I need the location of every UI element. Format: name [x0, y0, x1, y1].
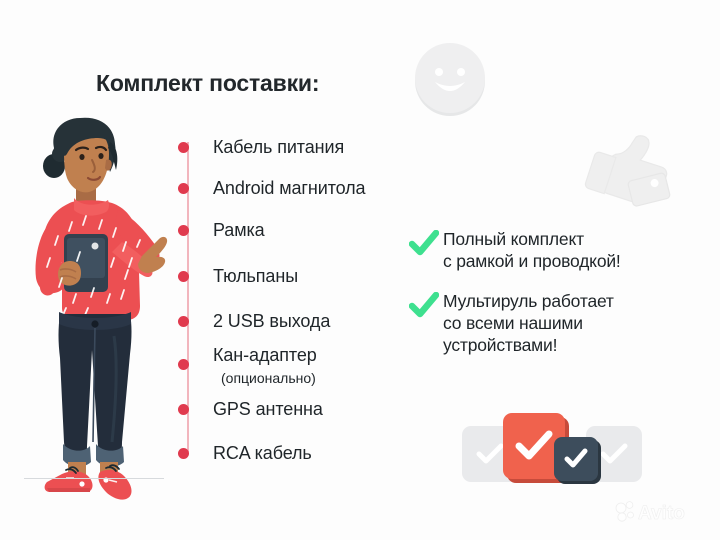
- list-item: Android магнитола: [178, 177, 365, 199]
- check-icon: [563, 448, 589, 470]
- bullet-dot-icon: [178, 316, 189, 327]
- ground-line: [24, 478, 164, 479]
- checkbox-cards-decoration: [462, 412, 642, 492]
- benefit-line: с рамкой и проводкой!: [443, 250, 621, 272]
- list-item-label: GPS антенна: [213, 399, 323, 420]
- list-item: Рамка: [178, 219, 265, 241]
- benefit-item: Полный комплект с рамкой и проводкой!: [409, 228, 709, 272]
- bullet-dot-icon: [178, 359, 189, 370]
- benefits-list: Полный комплект с рамкой и проводкой! Му…: [409, 228, 709, 370]
- avito-wordmark: Avito: [638, 503, 685, 524]
- bullet-dot-icon: [178, 448, 189, 459]
- list-item: Тюльпаны: [178, 265, 298, 287]
- list-item: Кабель питания: [178, 136, 344, 158]
- page-title: Комплект поставки:: [96, 70, 319, 97]
- green-check-icon: [409, 230, 439, 258]
- list-item-label: Кан-адаптер: [213, 345, 317, 366]
- list-item-label: Рамка: [213, 220, 265, 241]
- thumbs-up-icon: [569, 104, 700, 235]
- list-item-label: 2 USB выхода: [213, 311, 330, 332]
- woman-with-tablet-illustration: [14, 112, 182, 504]
- benefit-line: Полный комплект: [443, 228, 621, 250]
- list-item: RCA кабель: [178, 442, 312, 464]
- check-icon: [475, 442, 505, 466]
- list-item-label: RCA кабель: [213, 443, 312, 464]
- benefit-item: Мультируль работает со всеми нашими устр…: [409, 290, 709, 356]
- benefit-text: Полный комплект с рамкой и проводкой!: [443, 228, 621, 272]
- bullet-dot-icon: [178, 183, 189, 194]
- check-icon: [514, 430, 554, 462]
- avito-watermark: Avito: [612, 498, 710, 526]
- checkbox-card-dark: [554, 437, 598, 481]
- bullet-dot-icon: [178, 271, 189, 282]
- package-contents-list: Кабель питания Android магнитола Рамка Т…: [178, 130, 408, 460]
- benefit-line: со всеми нашими: [443, 312, 614, 334]
- benefit-line: устройствами!: [443, 334, 614, 356]
- benefit-line: Мультируль работает: [443, 290, 614, 312]
- bullet-dot-icon: [178, 225, 189, 236]
- list-item-label: Android магнитола: [213, 178, 365, 199]
- product-infographic-image: Комплект поставки:: [0, 0, 720, 540]
- check-icon: [599, 442, 629, 466]
- list-item-label: Тюльпаны: [213, 266, 298, 287]
- list-item: GPS антенна: [178, 398, 323, 420]
- list-item-sublabel: (опционально): [221, 370, 316, 386]
- list-item: 2 USB выхода: [178, 310, 330, 332]
- green-check-icon: [409, 292, 439, 320]
- list-item-label: Кабель питания: [213, 137, 344, 158]
- bullet-dot-icon: [178, 404, 189, 415]
- benefit-text: Мультируль работает со всеми нашими устр…: [443, 290, 614, 356]
- smiley-face-icon: [411, 40, 489, 118]
- bullet-dot-icon: [178, 142, 189, 153]
